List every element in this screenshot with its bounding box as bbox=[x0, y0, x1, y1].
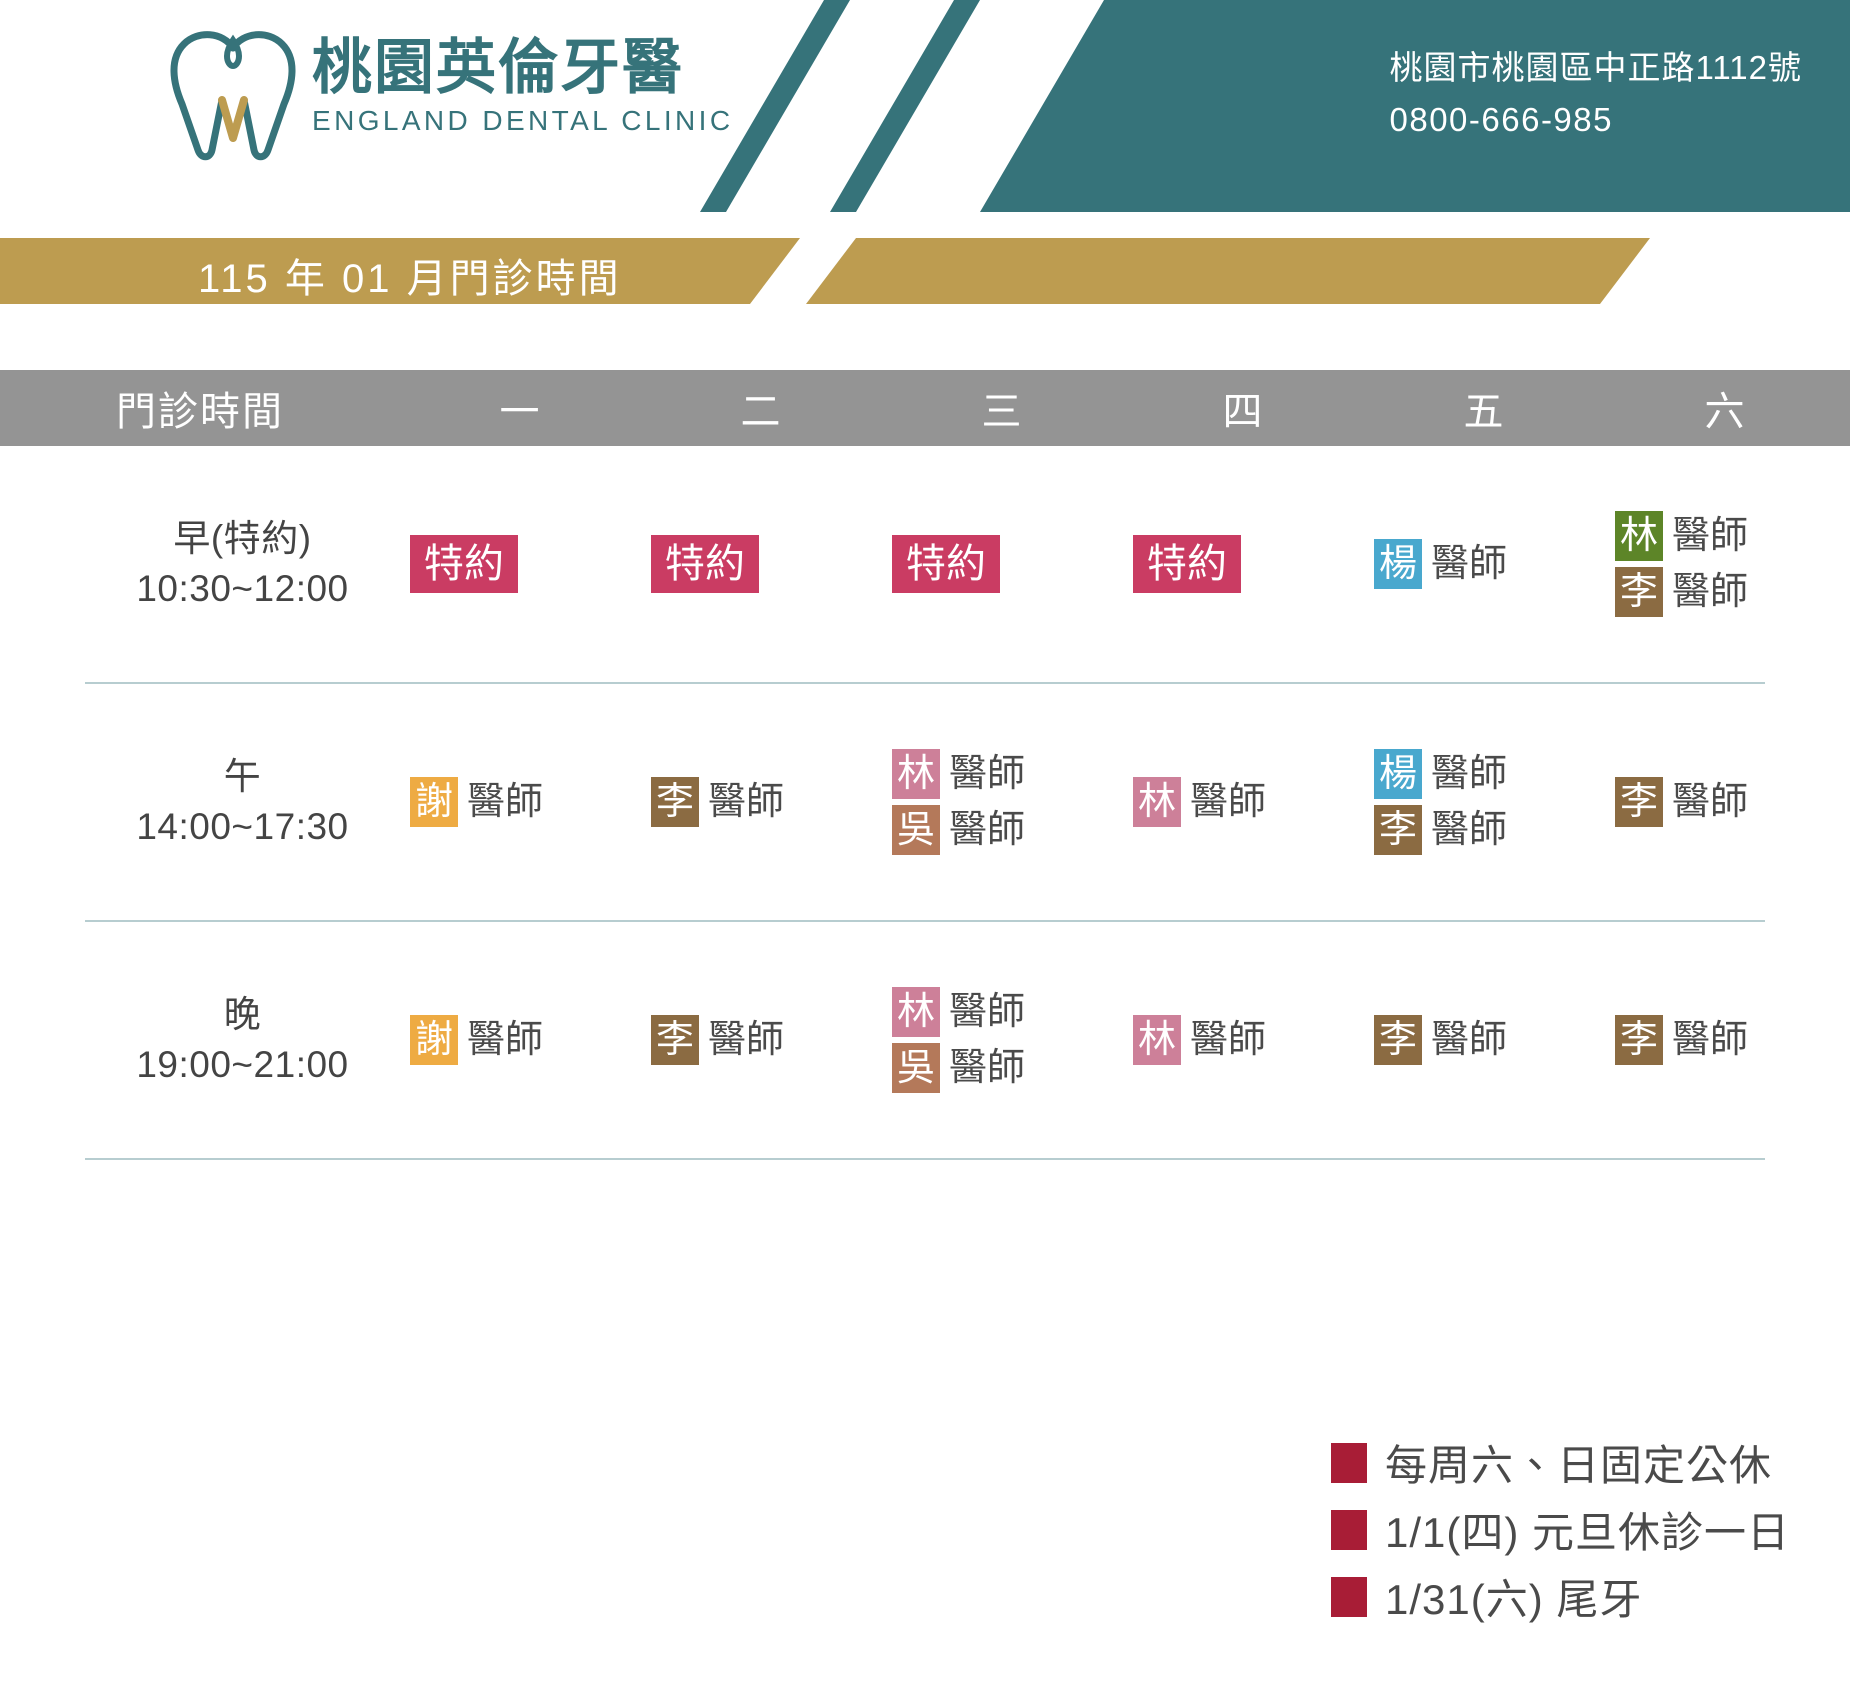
doctor-surname-badge: 林 bbox=[1133, 1015, 1181, 1065]
doctor-entry[interactable]: 楊醫師 bbox=[1374, 539, 1507, 589]
footer-note: 每周六、日固定公休 bbox=[1331, 1432, 1790, 1493]
period-label: 午 bbox=[85, 752, 400, 802]
doctor-surname-badge: 謝 bbox=[410, 1015, 458, 1065]
note-bullet-icon bbox=[1331, 1510, 1367, 1550]
doctor-title-label: 醫師 bbox=[1672, 783, 1748, 821]
schedule-cell-day-1[interactable]: 謝醫師 bbox=[400, 777, 641, 827]
header-cell-day-3: 三 bbox=[882, 379, 1123, 437]
period-time-range: 19:00~21:00 bbox=[85, 1040, 400, 1090]
doctor-title-label: 醫師 bbox=[708, 783, 784, 821]
clinic-address: 桃園市桃園區中正路1112號 bbox=[1389, 44, 1802, 92]
note-bullet-icon bbox=[1331, 1577, 1367, 1617]
doctor-entry[interactable]: 李醫師 bbox=[1374, 805, 1507, 855]
schedule-cell-day-3[interactable]: 林醫師吳醫師 bbox=[882, 749, 1123, 855]
doctor-surname-badge: 李 bbox=[1374, 1015, 1422, 1065]
doctor-entry[interactable]: 李醫師 bbox=[651, 777, 784, 827]
period-time-range: 14:00~17:30 bbox=[85, 802, 400, 852]
doctor-surname-badge: 林 bbox=[1615, 511, 1663, 561]
doctor-entry[interactable]: 吳醫師 bbox=[892, 805, 1025, 855]
doctor-surname-badge: 楊 bbox=[1374, 539, 1422, 589]
row-time-label: 早(特約)10:30~12:00 bbox=[85, 514, 400, 614]
appointment-entry[interactable]: 特約 bbox=[1133, 535, 1241, 593]
schedule-cell-day-6[interactable]: 李醫師 bbox=[1605, 1015, 1846, 1065]
schedule-row: 早(特約)10:30~12:00特約特約特約特約楊醫師林醫師李醫師 bbox=[85, 446, 1765, 684]
doctor-entry[interactable]: 楊醫師 bbox=[1374, 749, 1507, 799]
appointment-entry[interactable]: 特約 bbox=[410, 535, 518, 593]
schedule-cell-day-2[interactable]: 李醫師 bbox=[641, 777, 882, 827]
doctor-title-label: 醫師 bbox=[467, 783, 543, 821]
period-time-range: 10:30~12:00 bbox=[85, 564, 400, 614]
doctor-surname-badge: 李 bbox=[1374, 805, 1422, 855]
month-banner-right bbox=[806, 238, 1650, 304]
doctor-entry[interactable]: 謝醫師 bbox=[410, 1015, 543, 1065]
doctor-title-label: 醫師 bbox=[1190, 783, 1266, 821]
clinic-name-en: ENGLAND DENTAL CLINIC bbox=[312, 105, 733, 137]
doctor-title-label: 醫師 bbox=[467, 1021, 543, 1059]
footer-note: 1/1(四) 元旦休診一日 bbox=[1331, 1499, 1790, 1560]
period-label: 早(特約) bbox=[85, 514, 400, 564]
doctor-entry[interactable]: 吳醫師 bbox=[892, 1043, 1025, 1093]
doctor-entry[interactable]: 林醫師 bbox=[1133, 1015, 1266, 1065]
doctor-title-label: 醫師 bbox=[1431, 545, 1507, 583]
schedule-cell-day-5[interactable]: 李醫師 bbox=[1364, 1015, 1605, 1065]
note-bullet-icon bbox=[1331, 1443, 1367, 1483]
row-time-label: 晚19:00~21:00 bbox=[85, 990, 400, 1090]
schedule-cell-day-5[interactable]: 楊醫師 bbox=[1364, 539, 1605, 589]
clinic-logo: 桃園英倫牙醫 ENGLAND DENTAL CLINIC bbox=[170, 28, 733, 162]
header-cell-day-6: 六 bbox=[1605, 379, 1846, 437]
appointment-badge: 特約 bbox=[651, 535, 759, 593]
schedule-cell-day-4[interactable]: 林醫師 bbox=[1123, 1015, 1364, 1065]
note-text: 1/31(六) 尾牙 bbox=[1385, 1566, 1642, 1627]
doctor-surname-badge: 李 bbox=[1615, 1015, 1663, 1065]
doctor-entry[interactable]: 謝醫師 bbox=[410, 777, 543, 827]
schedule-cell-day-4[interactable]: 林醫師 bbox=[1123, 777, 1364, 827]
doctor-surname-badge: 吳 bbox=[892, 1043, 940, 1093]
schedule-cell-day-5[interactable]: 楊醫師李醫師 bbox=[1364, 749, 1605, 855]
clinic-contact: 桃園市桃園區中正路1112號 0800-666-985 bbox=[1389, 44, 1802, 144]
doctor-entry[interactable]: 林醫師 bbox=[1615, 511, 1748, 561]
doctor-surname-badge: 林 bbox=[892, 749, 940, 799]
doctor-entry[interactable]: 李醫師 bbox=[1615, 567, 1748, 617]
header-cell-time: 門診時間 bbox=[0, 379, 400, 437]
doctor-surname-badge: 李 bbox=[651, 1015, 699, 1065]
month-banner-title: 115 年 01 月門診時間 bbox=[198, 246, 622, 304]
header-cell-day-4: 四 bbox=[1123, 379, 1364, 437]
doctor-surname-badge: 林 bbox=[1133, 777, 1181, 827]
schedule-cell-day-2[interactable]: 李醫師 bbox=[641, 1015, 882, 1065]
doctor-title-label: 醫師 bbox=[949, 993, 1025, 1031]
period-label: 晚 bbox=[85, 990, 400, 1040]
clinic-schedule-poster: 桃園英倫牙醫 ENGLAND DENTAL CLINIC 桃園市桃園區中正路11… bbox=[0, 0, 1850, 1684]
appointment-badge: 特約 bbox=[1133, 535, 1241, 593]
schedule-row: 午14:00~17:30謝醫師李醫師林醫師吳醫師林醫師楊醫師李醫師李醫師 bbox=[85, 684, 1765, 922]
teal-stripe-inner bbox=[830, 0, 980, 212]
doctor-surname-badge: 林 bbox=[892, 987, 940, 1037]
schedule-cell-day-3[interactable]: 特約 bbox=[882, 535, 1123, 593]
schedule-cell-day-6[interactable]: 李醫師 bbox=[1605, 777, 1846, 827]
appointment-entry[interactable]: 特約 bbox=[651, 535, 759, 593]
doctor-title-label: 醫師 bbox=[1431, 1021, 1507, 1059]
schedule-cell-day-1[interactable]: 謝醫師 bbox=[400, 1015, 641, 1065]
doctor-surname-badge: 李 bbox=[1615, 567, 1663, 617]
doctor-title-label: 醫師 bbox=[949, 811, 1025, 849]
schedule-rows: 早(特約)10:30~12:00特約特約特約特約楊醫師林醫師李醫師午14:00~… bbox=[0, 446, 1850, 1160]
doctor-title-label: 醫師 bbox=[1672, 517, 1748, 555]
doctor-title-label: 醫師 bbox=[949, 1049, 1025, 1087]
doctor-surname-badge: 吳 bbox=[892, 805, 940, 855]
doctor-entry[interactable]: 林醫師 bbox=[892, 987, 1025, 1037]
header-cell-day-5: 五 bbox=[1364, 379, 1605, 437]
schedule-cell-day-2[interactable]: 特約 bbox=[641, 535, 882, 593]
header-cell-day-1: 一 bbox=[400, 379, 641, 437]
doctor-entry[interactable]: 李醫師 bbox=[651, 1015, 784, 1065]
footer-notes: 每周六、日固定公休1/1(四) 元旦休診一日1/31(六) 尾牙 bbox=[1331, 1432, 1790, 1627]
footer-note: 1/31(六) 尾牙 bbox=[1331, 1566, 1790, 1627]
doctor-entry[interactable]: 李醫師 bbox=[1615, 1015, 1748, 1065]
schedule-row: 晚19:00~21:00謝醫師李醫師林醫師吳醫師林醫師李醫師李醫師 bbox=[85, 922, 1765, 1160]
row-time-label: 午14:00~17:30 bbox=[85, 752, 400, 852]
header-cell-day-2: 二 bbox=[641, 379, 882, 437]
doctor-title-label: 醫師 bbox=[949, 755, 1025, 793]
doctor-title-label: 醫師 bbox=[1190, 1021, 1266, 1059]
appointment-entry[interactable]: 特約 bbox=[892, 535, 1000, 593]
doctor-title-label: 醫師 bbox=[1431, 811, 1507, 849]
doctor-surname-badge: 李 bbox=[1615, 777, 1663, 827]
doctor-entry[interactable]: 林醫師 bbox=[892, 749, 1025, 799]
tooth-logo-icon bbox=[170, 28, 296, 162]
doctor-title-label: 醫師 bbox=[1672, 573, 1748, 611]
note-text: 1/1(四) 元旦休診一日 bbox=[1385, 1499, 1790, 1560]
schedule-cell-day-3[interactable]: 林醫師吳醫師 bbox=[882, 987, 1123, 1093]
doctor-entry[interactable]: 李醫師 bbox=[1615, 777, 1748, 827]
doctor-entry[interactable]: 林醫師 bbox=[1133, 777, 1266, 827]
appointment-badge: 特約 bbox=[410, 535, 518, 593]
doctor-title-label: 醫師 bbox=[1431, 755, 1507, 793]
note-text: 每周六、日固定公休 bbox=[1385, 1432, 1772, 1493]
clinic-name-block: 桃園英倫牙醫 ENGLAND DENTAL CLINIC bbox=[312, 28, 733, 137]
appointment-badge: 特約 bbox=[892, 535, 1000, 593]
doctor-surname-badge: 謝 bbox=[410, 777, 458, 827]
doctor-surname-badge: 楊 bbox=[1374, 749, 1422, 799]
doctor-surname-badge: 李 bbox=[651, 777, 699, 827]
doctor-title-label: 醫師 bbox=[708, 1021, 784, 1059]
schedule-header-row: 門診時間一二三四五六 bbox=[0, 370, 1850, 446]
schedule-cell-day-6[interactable]: 林醫師李醫師 bbox=[1605, 511, 1846, 617]
schedule-cell-day-4[interactable]: 特約 bbox=[1123, 535, 1364, 593]
clinic-name-cn: 桃園英倫牙醫 bbox=[312, 36, 733, 99]
schedule-cell-day-1[interactable]: 特約 bbox=[400, 535, 641, 593]
doctor-title-label: 醫師 bbox=[1672, 1021, 1748, 1059]
doctor-entry[interactable]: 李醫師 bbox=[1374, 1015, 1507, 1065]
clinic-phone: 0800-666-985 bbox=[1389, 96, 1802, 144]
